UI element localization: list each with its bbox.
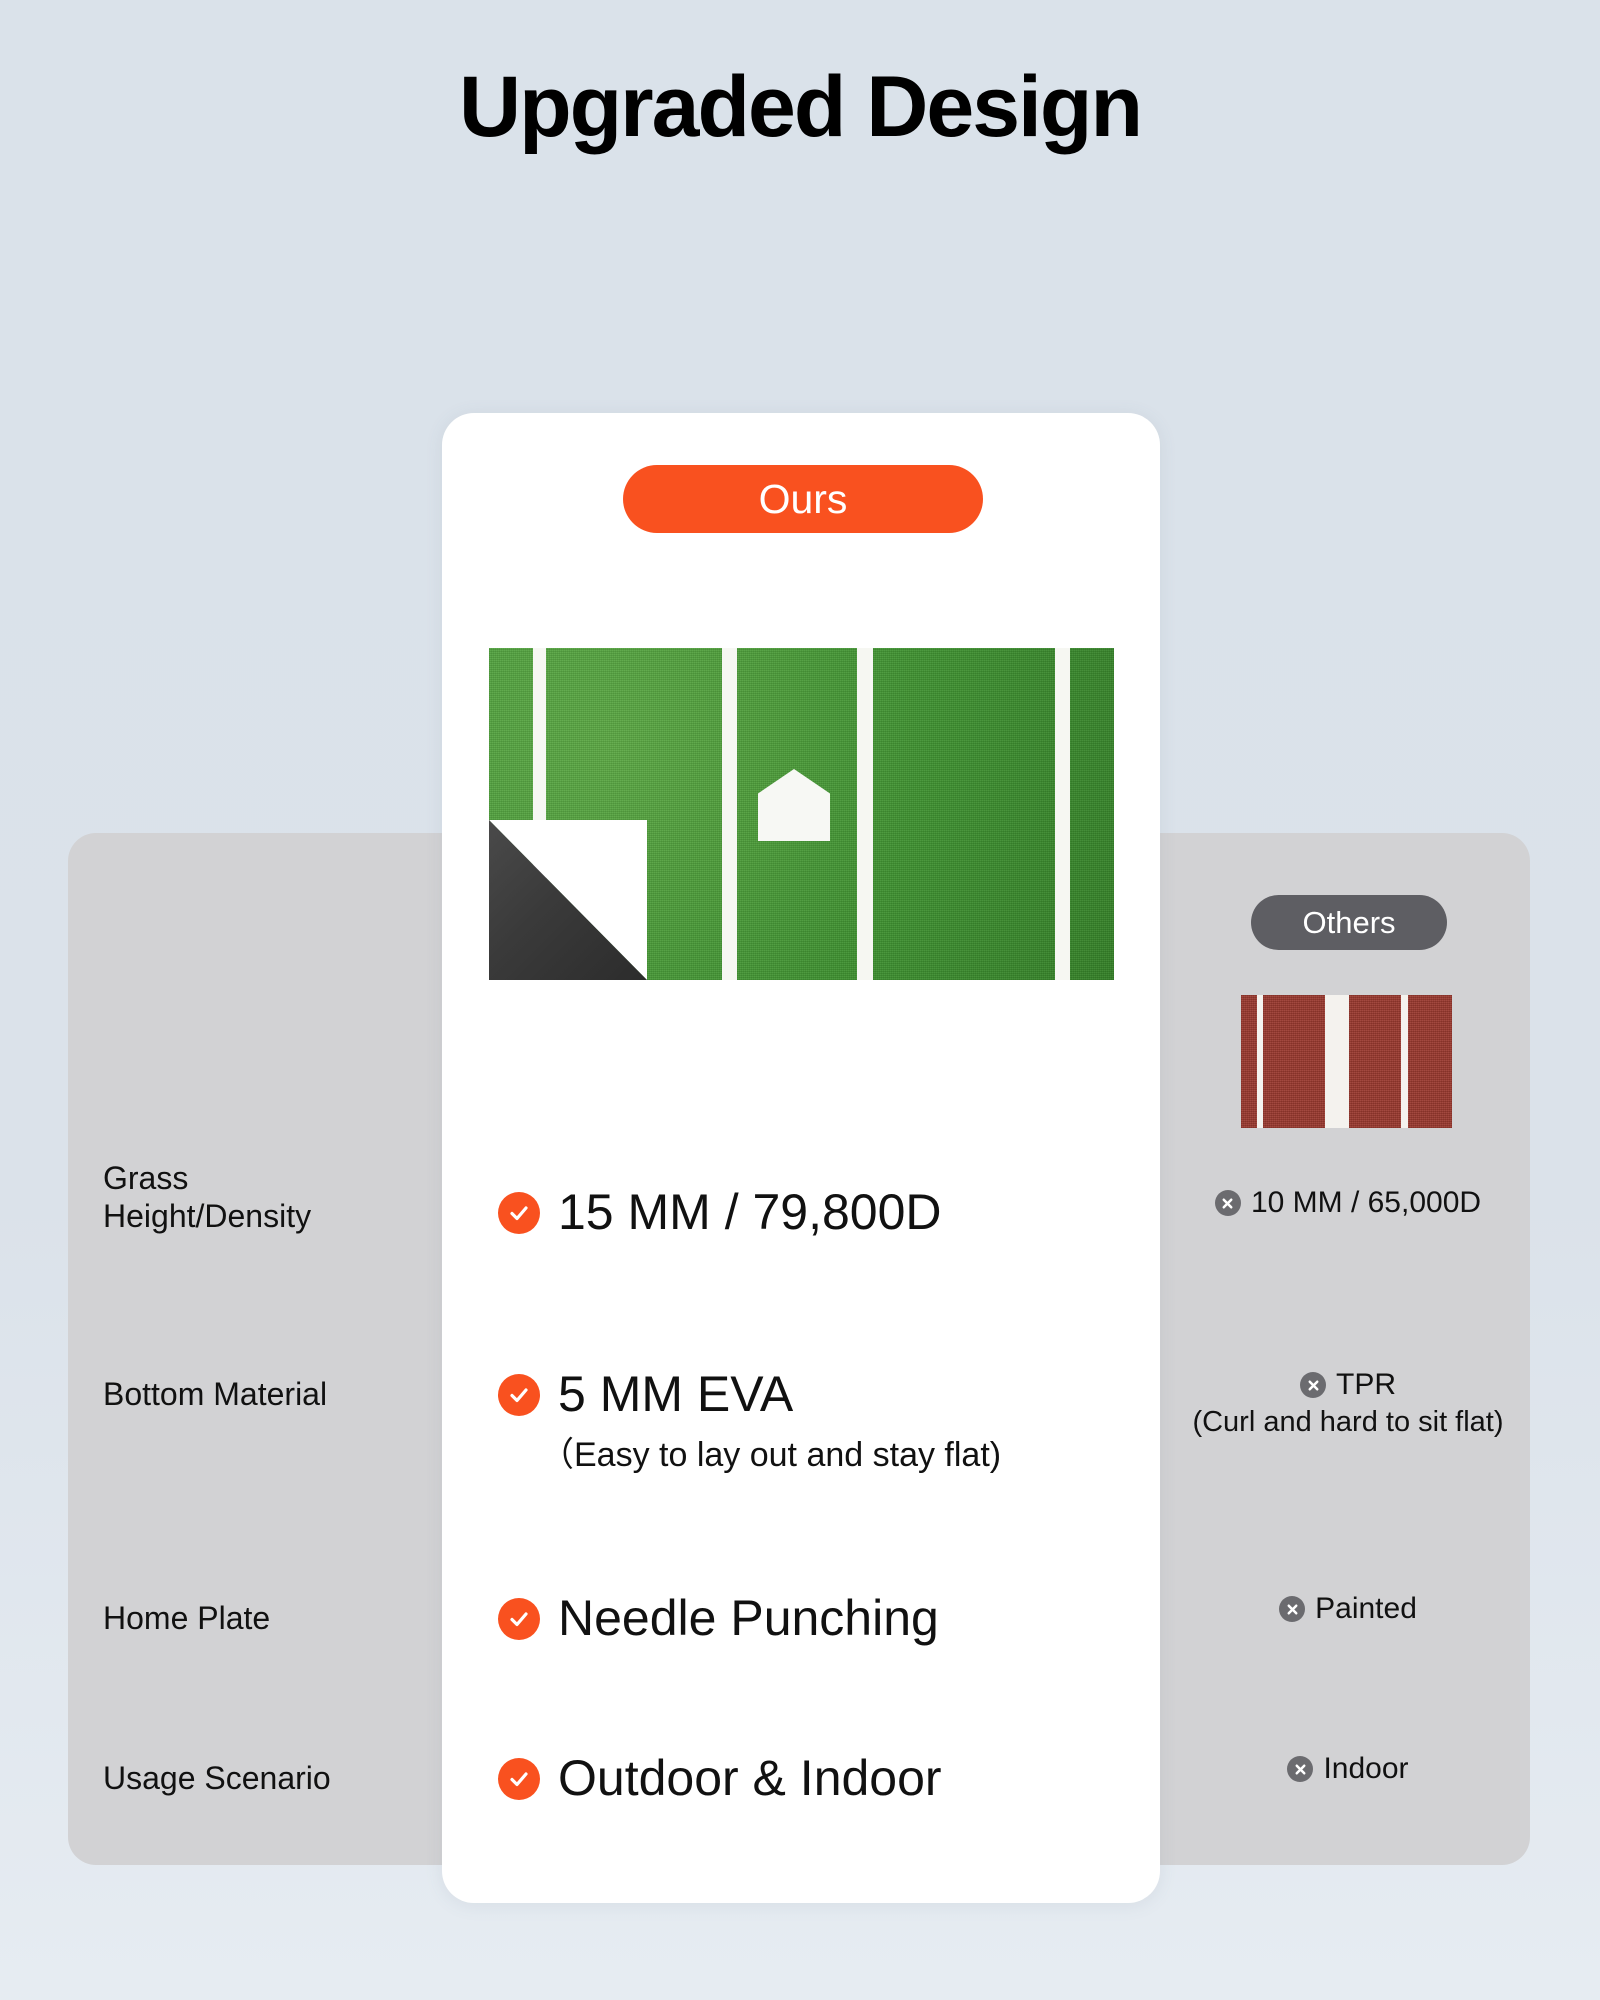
others-badge: Others: [1251, 895, 1447, 950]
feature-label-line: Usage Scenario: [103, 1760, 423, 1798]
feature-label-line: Height/Density: [103, 1198, 423, 1236]
others-value-cell: Painted: [1166, 1592, 1530, 1626]
ours-value-cell: 5 MM EVA （Easy to lay out and stay flat): [498, 1368, 1138, 1476]
others-value-text: Indoor: [1323, 1752, 1408, 1786]
feature-label-line: Bottom Material: [103, 1376, 423, 1414]
others-value-cell: TPR (Curl and hard to sit flat): [1166, 1368, 1530, 1439]
others-value-cell: Indoor: [1166, 1752, 1530, 1786]
ours-value-text: Needle Punching: [558, 1592, 939, 1645]
ours-card: [442, 413, 1160, 1903]
ours-value-cell: Outdoor & Indoor: [498, 1752, 1138, 1805]
check-circle-icon: [498, 1758, 540, 1800]
ours-value-cell: 15 MM / 79,800D: [498, 1186, 1138, 1239]
ours-value-cell: Needle Punching: [498, 1592, 1138, 1645]
ours-value-note: （Easy to lay out and stay flat): [540, 1427, 1138, 1476]
others-value-main: Painted: [1166, 1592, 1530, 1626]
ours-product-image: [489, 648, 1114, 980]
ours-value-main: Needle Punching: [498, 1592, 1138, 1645]
feature-label: Grass Height/Density: [103, 1160, 423, 1236]
others-value-main: 10 MM / 65,000D: [1166, 1186, 1530, 1220]
mat-stripe: [1055, 648, 1070, 980]
others-value-text: TPR: [1336, 1368, 1396, 1402]
feature-label: Usage Scenario: [103, 1760, 423, 1798]
cross-circle-icon: [1215, 1190, 1241, 1216]
mat-stripe: [857, 648, 873, 980]
others-value-note: (Curl and hard to sit flat): [1166, 1406, 1530, 1439]
ours-value-text: 5 MM EVA: [558, 1368, 793, 1421]
ours-badge: Ours: [623, 465, 983, 533]
others-value-main: Indoor: [1166, 1752, 1530, 1786]
ours-value-main: Outdoor & Indoor: [498, 1752, 1138, 1805]
others-value-cell: 10 MM / 65,000D: [1166, 1186, 1530, 1220]
feature-label: Home Plate: [103, 1600, 423, 1638]
page-title: Upgraded Design: [0, 62, 1600, 152]
feature-label: Bottom Material: [103, 1376, 423, 1414]
cross-circle-icon: [1287, 1756, 1313, 1782]
check-circle-icon: [498, 1374, 540, 1416]
infographic-root: Upgraded Design Ours Others Grass Height…: [0, 0, 1600, 2000]
ours-value-text: Outdoor & Indoor: [558, 1752, 942, 1805]
check-circle-icon: [498, 1598, 540, 1640]
feature-label-line: Home Plate: [103, 1600, 423, 1638]
check-circle-icon: [498, 1192, 540, 1234]
others-product-image: [1241, 995, 1452, 1128]
ours-value-main: 15 MM / 79,800D: [498, 1186, 1138, 1239]
others-value-text: 10 MM / 65,000D: [1251, 1186, 1481, 1220]
mat-stripe: [722, 648, 737, 980]
cross-circle-icon: [1300, 1372, 1326, 1398]
red-mat-stripe: [1325, 995, 1349, 1128]
red-mat-stripe: [1257, 995, 1263, 1128]
ours-value-text: 15 MM / 79,800D: [558, 1186, 942, 1239]
cross-circle-icon: [1279, 1596, 1305, 1622]
red-mat-stripe: [1401, 995, 1408, 1128]
others-value-main: TPR: [1166, 1368, 1530, 1402]
others-value-text: Painted: [1315, 1592, 1417, 1626]
feature-label-line: Grass: [103, 1160, 423, 1198]
ours-value-main: 5 MM EVA: [498, 1368, 1138, 1421]
